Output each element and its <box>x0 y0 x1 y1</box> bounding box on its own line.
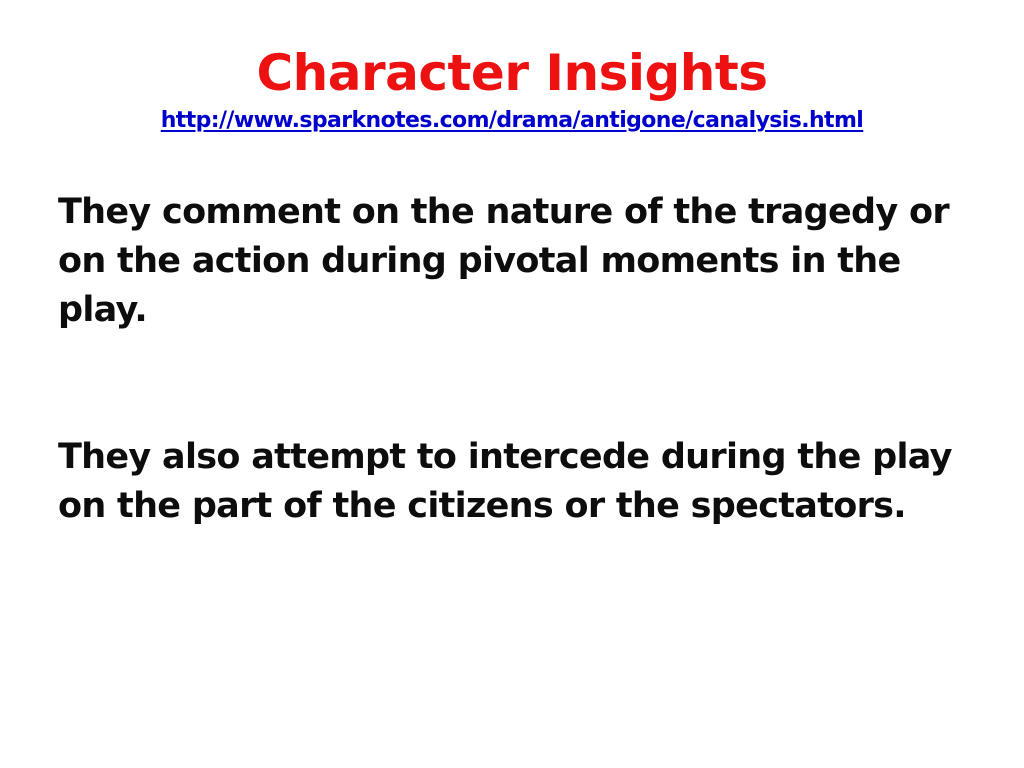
body-paragraph-2: They also attempt to intercede during th… <box>58 433 968 531</box>
slide-body-content: They comment on the nature of the traged… <box>58 188 968 531</box>
source-url-link[interactable]: http://www.sparknotes.com/drama/antigone… <box>161 107 864 135</box>
slide-header: Character Insights http://www.sparknotes… <box>0 44 1024 135</box>
paragraph-spacer <box>58 335 968 433</box>
page-title: Character Insights <box>0 44 1024 102</box>
presentation-slide: Character Insights http://www.sparknotes… <box>0 0 1024 768</box>
body-paragraph-1: They comment on the nature of the traged… <box>58 188 968 335</box>
